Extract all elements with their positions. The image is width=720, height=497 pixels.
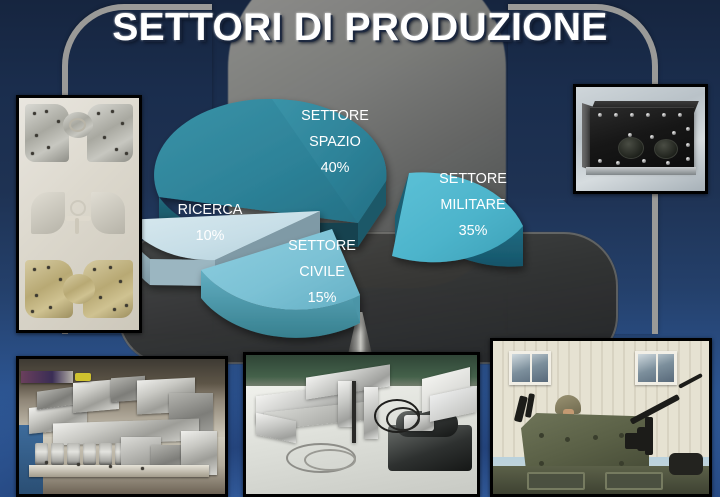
label-ricerca-value: 10% xyxy=(196,228,225,244)
label-ricerca-line1: RICERCA xyxy=(178,202,243,218)
photo-bench-assembly-image xyxy=(19,359,225,494)
pie-chart: SETTORE SPAZIO 40% SETTORE MILITARE 35% … xyxy=(120,70,600,350)
slide-root: SETTORI DI PRODUZIONE xyxy=(0,0,720,497)
page-title: SETTORI DI PRODUZIONE xyxy=(0,6,720,50)
photo-military-turret-image xyxy=(493,341,709,494)
photo-machined-parts-image xyxy=(19,98,139,330)
label-militare-line1: SETTORE xyxy=(439,171,507,187)
label-civile-line1: SETTORE xyxy=(288,238,356,254)
label-civile-value: 15% xyxy=(308,290,337,306)
label-militare-value: 35% xyxy=(459,223,488,239)
photo-black-enclosure-image xyxy=(576,87,705,191)
label-spazio-line2: SPAZIO xyxy=(309,134,361,150)
label-spazio-value: 40% xyxy=(321,160,350,176)
label-militare-line2: MILITARE xyxy=(440,197,505,213)
label-spazio-line1: SETTORE xyxy=(301,108,369,124)
photo-black-enclosure[interactable] xyxy=(573,84,708,194)
photo-cabled-assembly-image xyxy=(246,355,477,494)
label-civile-line2: CIVILE xyxy=(299,264,345,280)
photo-machined-parts[interactable] xyxy=(16,95,142,333)
photo-bench-assembly[interactable] xyxy=(16,356,228,497)
photo-cabled-assembly[interactable] xyxy=(243,352,480,497)
pie-chart-svg: SETTORE SPAZIO 40% SETTORE MILITARE 35% … xyxy=(120,70,600,360)
photo-military-turret[interactable] xyxy=(490,338,712,497)
